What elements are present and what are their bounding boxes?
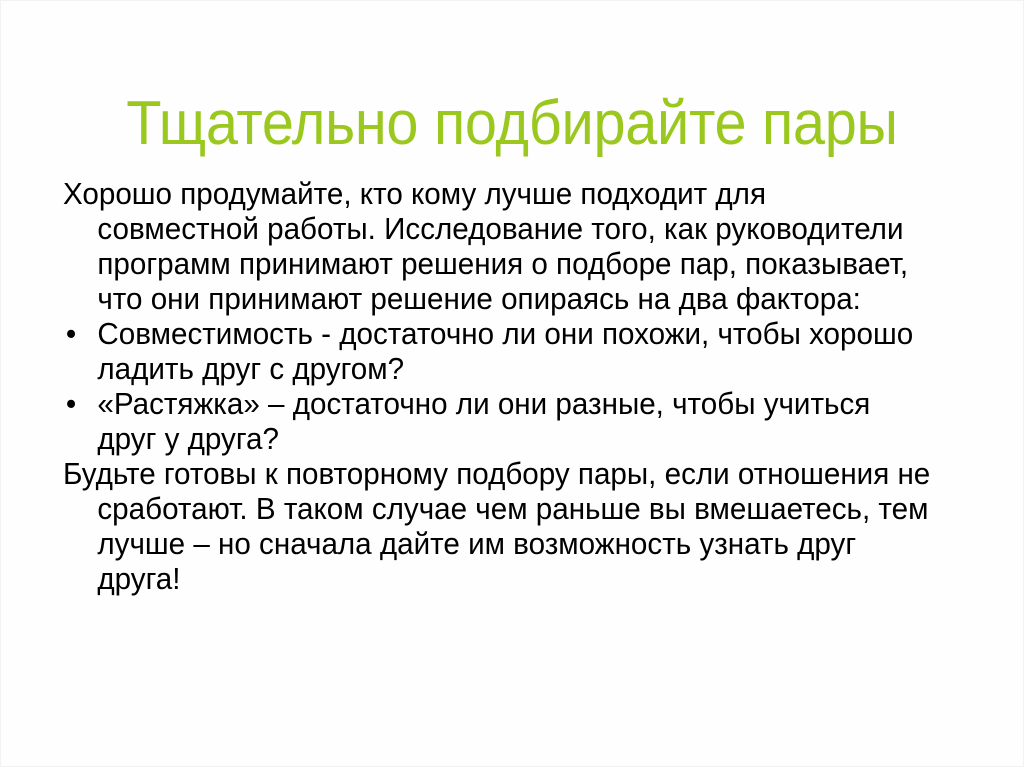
list-item-label: «Растяжка» – достаточно ли они разные, ч… <box>97 386 870 456</box>
list-item: • Совместимость - достаточно ли они похо… <box>63 316 934 386</box>
bullet-dot-icon: • <box>66 386 85 421</box>
list-item-label: Совместимость - достаточно ли они похожи… <box>97 316 913 386</box>
slide-body: Хорошо продумайте, кто кому лучше подход… <box>63 176 975 596</box>
body-paragraph: Хорошо продумайте, кто кому лучше подход… <box>63 176 934 316</box>
list-item: • «Растяжка» – достаточно ли они разные,… <box>63 386 934 456</box>
body-paragraph: Будьте готовы к повторному подбору пары,… <box>63 456 934 596</box>
presentation-slide: Тщательно подбирайте пары Хорошо продума… <box>0 0 1024 767</box>
bullet-dot-icon: • <box>66 316 85 351</box>
slide-title: Тщательно подбирайте пары <box>37 91 987 156</box>
